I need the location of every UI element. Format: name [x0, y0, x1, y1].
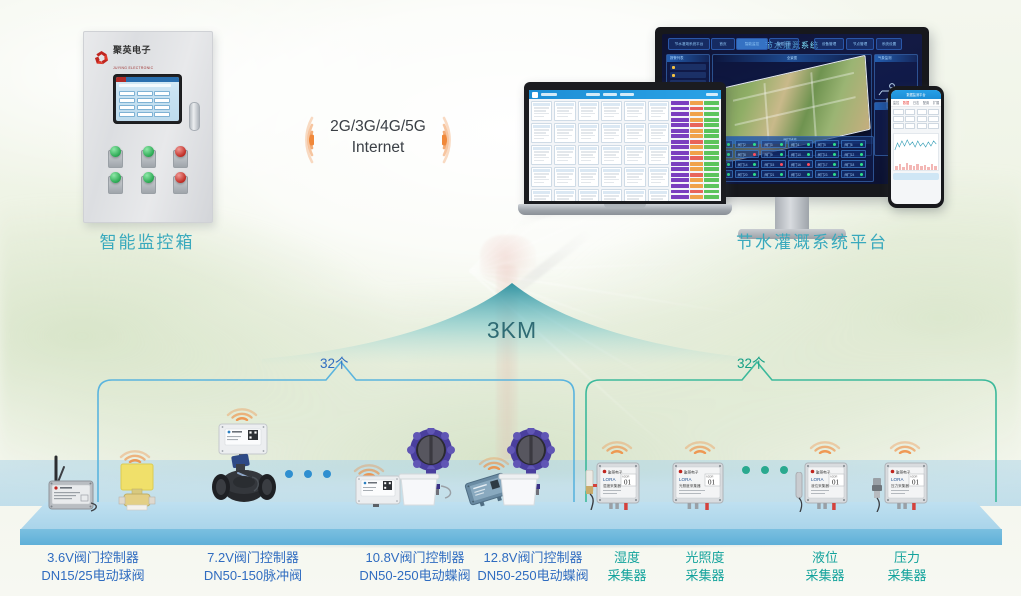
valve-state-dot	[833, 153, 836, 156]
laptop-device-card[interactable]	[554, 145, 575, 165]
caption-line1: 7.2V阀门控制器	[178, 549, 328, 567]
svg-text:01: 01	[708, 479, 716, 487]
svg-text:聚英电子: 聚英电子	[816, 469, 831, 474]
valve-status-cell[interactable]: 阀门22	[788, 170, 813, 178]
laptop-device-card[interactable]	[624, 167, 645, 187]
valve-group-count: 32个	[320, 352, 349, 372]
laptop-toolbar	[529, 90, 721, 99]
svg-text:光照度采集器: 光照度采集器	[679, 483, 701, 488]
laptop-device-card[interactable]	[554, 101, 575, 121]
caption-pressure-collector: 压力采集器	[872, 549, 942, 585]
network-link: 2G/3G/4G/5G Internet	[262, 104, 494, 176]
caption-line1: 湿度	[592, 549, 662, 567]
wifi-icon-sensor-3	[808, 428, 842, 459]
svg-text:压力采集器: 压力采集器	[891, 483, 909, 488]
wifi-icon-sensor-4	[888, 428, 922, 459]
valve-status-cell[interactable]: 阀门3	[761, 140, 786, 148]
valve-state-dot	[807, 153, 810, 156]
valve-status-cell[interactable]: 阀门20	[735, 170, 760, 178]
svg-text:LORA: LORA	[811, 477, 824, 482]
laptop-device-card[interactable]	[531, 145, 552, 165]
valve-state-dot	[833, 143, 836, 146]
valve-cell-label: 阀门23	[818, 172, 828, 177]
laptop-log-row[interactable]	[671, 118, 719, 122]
cabinet-brand-en: JUYING ELECTRONIC	[113, 66, 153, 70]
laptop-log-row[interactable]	[671, 107, 719, 111]
laptop-device-card[interactable]	[624, 189, 645, 201]
valve-cell-label: 阀门6	[844, 142, 852, 147]
cabinet-door-handle[interactable]	[189, 102, 200, 131]
valve-base-box-1	[398, 473, 440, 508]
valve-status-cell[interactable]: 阀门14	[735, 160, 760, 168]
valve-status-cell[interactable]: 阀门15	[761, 160, 786, 168]
valve-cell-label: 阀门8	[738, 152, 746, 157]
valve-cell-label: 阀门10	[791, 152, 801, 157]
network-line1: 2G/3G/4G/5G	[330, 118, 426, 135]
valve-state-dot	[860, 163, 863, 166]
platform-caption: 节水灌溉系统平台	[600, 228, 1021, 253]
caption-line2: 采集器	[872, 567, 942, 585]
laptop-log-row[interactable]	[671, 195, 719, 199]
laptop-log-row[interactable]	[671, 101, 719, 105]
valve-status-cell[interactable]: 阀门9	[761, 150, 786, 158]
cabinet-hmi-screen[interactable]	[113, 74, 182, 124]
device-illuminance-collector[interactable]: 聚英电子LORA光照度采集器ADDR01	[672, 462, 724, 510]
valve-state-dot	[780, 143, 783, 146]
valve-state-dot	[860, 143, 863, 146]
valve-status-cell[interactable]: 阀门21	[761, 170, 786, 178]
svg-text:01: 01	[832, 479, 840, 487]
svg-text:湿度采集器: 湿度采集器	[603, 483, 621, 488]
caption-line1: 液位	[790, 549, 860, 567]
svg-text:LORA: LORA	[679, 477, 692, 482]
valve-cell-label: 阀门20	[738, 172, 748, 177]
valve-status-cell[interactable]: 阀门12	[841, 150, 866, 158]
valve-status-cell[interactable]: 阀门23	[815, 170, 840, 178]
valve-cell-label: 阀门22	[791, 172, 801, 177]
juying-logo-icon	[94, 50, 109, 65]
valve-status-cell[interactable]: 阀门24	[841, 170, 866, 178]
alarm-item[interactable]	[670, 72, 706, 78]
valve-state-dot	[780, 173, 783, 176]
valve-cell-label: 阀门15	[764, 162, 774, 167]
tab-analysis[interactable]: 数据分析	[769, 38, 799, 50]
humidity-probe	[583, 470, 597, 510]
caption-line2: 采集器	[670, 567, 740, 585]
sensor-group-count: 32个	[737, 352, 766, 372]
caption-illuminance-collector: 光照度采集器	[670, 549, 740, 585]
laptop-log-row[interactable]	[671, 184, 719, 188]
laptop-device-card[interactable]	[624, 101, 645, 121]
ellipsis-dots-valves	[283, 466, 333, 476]
caption-line1: 12.8V阀门控制器	[458, 549, 608, 567]
tab-nodes[interactable]: 节点管理	[846, 38, 874, 50]
valve-base-box-2	[498, 473, 540, 508]
laptop	[518, 82, 732, 222]
phone-action-button[interactable]	[893, 173, 939, 180]
valve-cell-label: 阀门11	[818, 152, 828, 157]
caption-valve-controller-12v8: 12.8V阀门控制器DN50-250电动蝶阀	[458, 549, 608, 585]
svg-text:液位采集器: 液位采集器	[811, 483, 829, 488]
dashboard-tabbar: 节水灌溉系统平台 首页 智能监控 数据分析 设备管理 节点管理 系统设置	[666, 38, 918, 51]
valve-state-dot	[753, 153, 756, 156]
indicator-light-6[interactable]	[173, 176, 188, 194]
indicator-light-2[interactable]	[141, 150, 156, 168]
indicator-light-4[interactable]	[108, 176, 123, 194]
monitor-stand	[775, 197, 809, 231]
valve-status-cell[interactable]: 阀门10	[788, 150, 813, 158]
indicator-light-5[interactable]	[141, 176, 156, 194]
valve-state-dot	[753, 173, 756, 176]
laptop-dashboard[interactable]	[529, 90, 721, 201]
device-captions: 3.6V阀门控制器DN15/25电动球阀7.2V阀门控制器DN50-150脉冲阀…	[0, 545, 1021, 593]
wifi-icon-valve-2	[225, 395, 259, 426]
phone-tab[interactable]: 扩展	[933, 100, 939, 105]
laptop-device-card[interactable]	[531, 123, 552, 143]
signal-waves-right-icon	[442, 112, 494, 168]
caption-line2: DN15/25电动球阀	[18, 567, 168, 585]
phone-title: 数据监测平台	[906, 92, 925, 97]
wifi-icon-sensor-1	[600, 428, 634, 459]
device-humidity-collector[interactable]: 聚英电子LORA湿度采集器ADDR01	[596, 462, 640, 510]
valve-status-cell[interactable]: 阀门2	[735, 140, 760, 148]
laptop-device-card[interactable]	[648, 189, 669, 201]
valve-status-cell[interactable]: 阀门6	[841, 140, 866, 148]
caption-line2: 采集器	[592, 567, 662, 585]
caption-line2: DN50-250电动蝶阀	[458, 567, 608, 585]
valve-state-dot	[807, 173, 810, 176]
svg-text:聚英电子: 聚英电子	[896, 469, 911, 474]
device-valve-controller-10v8[interactable]	[355, 475, 401, 507]
tab-devices[interactable]: 设备管理	[814, 38, 844, 50]
laptop-device-card[interactable]	[554, 189, 575, 201]
laptop-device-card[interactable]	[601, 145, 622, 165]
phone-tabs: 监控数据日志配置扩展	[891, 99, 941, 107]
caption-line1: 光照度	[670, 549, 740, 567]
valve-cell-label: 阀门12	[844, 152, 854, 157]
laptop-device-card[interactable]	[578, 145, 599, 165]
indicator-light-3[interactable]	[173, 150, 188, 168]
caption-line2: 采集器	[790, 567, 860, 585]
valve-state-dot	[833, 163, 836, 166]
valve-status-cell[interactable]: 阀门18	[841, 160, 866, 168]
svg-text:01: 01	[912, 479, 920, 487]
valve-status-cell[interactable]: 阀门5	[815, 140, 840, 148]
svg-text:聚英电子: 聚英电子	[684, 469, 699, 474]
laptop-log-row[interactable]	[671, 140, 719, 144]
laptop-device-card[interactable]	[601, 101, 622, 121]
svg-text:聚英电子: 聚英电子	[608, 469, 623, 474]
phone-trend-chart	[893, 133, 939, 171]
infographic-canvas: 聚英电子 JUYING ELECTRONIC	[0, 0, 1021, 596]
valve-cell-label: 阀门5	[818, 142, 826, 147]
laptop-device-card[interactable]	[531, 167, 552, 187]
valve-cell-label: 阀门9	[764, 152, 772, 157]
smart-control-cabinet: 聚英电子 JUYING ELECTRONIC	[83, 31, 213, 223]
valve-state-dot	[807, 143, 810, 146]
phone-tab[interactable]: 数据	[903, 100, 909, 105]
laptop-device-card[interactable]	[554, 167, 575, 187]
caption-valve-controller-7v2: 7.2V阀门控制器DN50-150脉冲阀	[178, 549, 328, 585]
laptop-log-row[interactable]	[671, 145, 719, 149]
smartphone: 数据监测平台 监控数据日志配置扩展	[888, 86, 944, 208]
valve-cell-label: 阀门21	[764, 172, 774, 177]
laptop-device-card[interactable]	[531, 189, 552, 201]
caption-line2: DN50-150脉冲阀	[178, 567, 328, 585]
level-probe	[793, 472, 805, 512]
phone-app[interactable]: 数据监测平台 监控数据日志配置扩展	[891, 90, 941, 204]
valve-cell-label: 阀门24	[844, 172, 854, 177]
device-pulse-valve-dn50	[208, 453, 280, 505]
laptop-device-card[interactable]	[578, 123, 599, 143]
caption-line1: 3.6V阀门控制器	[18, 549, 168, 567]
valve-cell-label: 阀门16	[791, 162, 801, 167]
laptop-device-card[interactable]	[578, 101, 599, 121]
laptop-device-grid	[529, 99, 671, 201]
phone-filter-fields[interactable]	[891, 107, 941, 131]
indicator-row-top	[108, 150, 188, 168]
network-line2: Internet	[352, 139, 405, 156]
laptop-device-card[interactable]	[648, 145, 669, 165]
laptop-device-card[interactable]	[601, 123, 622, 143]
device-liquid-level-collector[interactable]: 聚英电子LORA液位采集器ADDR01	[804, 462, 848, 510]
device-valve-controller-7v2[interactable]	[218, 423, 268, 457]
laptop-log-row[interactable]	[671, 167, 719, 171]
valve-state-dot	[753, 163, 756, 166]
laptop-device-card[interactable]	[601, 167, 622, 187]
valve-state-dot	[860, 153, 863, 156]
phone-tab[interactable]: 配置	[923, 100, 929, 105]
indicator-light-1[interactable]	[108, 150, 123, 168]
cabinet-brand-cn: 聚英电子	[113, 45, 151, 55]
tab-settings[interactable]: 系统设置	[876, 38, 902, 50]
laptop-device-card[interactable]	[578, 167, 599, 187]
cabinet-caption: 智能监控箱	[35, 228, 259, 253]
valve-status-cell[interactable]: 阀门4	[788, 140, 813, 148]
laptop-log-row[interactable]	[671, 123, 719, 127]
tab-monitoring[interactable]: 智能监控	[736, 38, 768, 50]
laptop-log-row[interactable]	[671, 190, 719, 194]
laptop-log-row[interactable]	[671, 151, 719, 155]
phone-titlebar: 数据监测平台	[891, 90, 941, 99]
laptop-log-row[interactable]	[671, 129, 719, 133]
device-pressure-collector[interactable]: 聚英电子LORA压力采集器ADDR01	[884, 462, 928, 510]
tab-home[interactable]: 首页	[711, 38, 735, 50]
alarm-item[interactable]	[670, 64, 706, 70]
valve-cell-label: 阀门17	[818, 162, 828, 167]
valve-state-dot	[860, 173, 863, 176]
svg-text:01: 01	[624, 479, 632, 487]
caption-valve-controller-3v6: 3.6V阀门控制器DN15/25电动球阀	[18, 549, 168, 585]
laptop-trackpad-notch	[604, 204, 646, 208]
laptop-log-row[interactable]	[671, 162, 719, 166]
range-label: 3KM	[262, 317, 762, 344]
caption-humidity-collector: 湿度采集器	[592, 549, 662, 585]
valve-state-dot	[807, 163, 810, 166]
wifi-icon-sensor-2	[683, 428, 717, 459]
laptop-log-row[interactable]	[671, 112, 719, 116]
laptop-log-row[interactable]	[671, 173, 719, 177]
svg-text:LORA: LORA	[603, 477, 616, 482]
laptop-device-card[interactable]	[601, 189, 622, 201]
panel-alarm-title: 报警列表	[667, 55, 709, 62]
laptop-log-row[interactable]	[671, 178, 719, 182]
device-ball-valve-dn15	[115, 462, 159, 512]
valve-cell-label: 阀门3	[764, 142, 772, 147]
valve-cell-label: 阀门4	[791, 142, 799, 147]
laptop-device-card[interactable]	[648, 167, 669, 187]
phone-bar-series	[894, 161, 938, 171]
valve-status-cell[interactable]: 阀门8	[735, 150, 760, 158]
valve-state-dot	[753, 143, 756, 146]
caption-line1: 压力	[872, 549, 942, 567]
valve-status-cell[interactable]: 阀门11	[815, 150, 840, 158]
laptop-brand-icon	[532, 92, 538, 98]
device-platform	[20, 502, 1002, 550]
laptop-log-list	[671, 99, 721, 201]
laptop-log-row[interactable]	[671, 134, 719, 138]
laptop-device-card[interactable]	[624, 145, 645, 165]
phone-tab[interactable]: 监控	[893, 100, 899, 105]
valve-cell-label: 阀门18	[844, 162, 854, 167]
panel-weather-title: 气象监测	[875, 55, 917, 62]
valve-status-cell[interactable]: 阀门17	[815, 160, 840, 168]
cabinet-brand-logo: 聚英电子 JUYING ELECTRONIC	[94, 41, 153, 73]
laptop-device-card[interactable]	[624, 123, 645, 143]
device-valve-controller-3v6[interactable]	[45, 455, 97, 513]
laptop-device-card[interactable]	[648, 101, 669, 121]
laptop-device-card[interactable]	[531, 101, 552, 121]
phone-tab[interactable]: 日志	[913, 100, 919, 105]
indicator-row-bottom	[108, 176, 188, 194]
valve-state-dot	[833, 173, 836, 176]
tab-platform[interactable]: 节水灌溉系统平台	[668, 38, 710, 50]
valve-state-dot	[780, 153, 783, 156]
svg-text:LORA: LORA	[891, 477, 904, 482]
valve-status-cell[interactable]: 阀门16	[788, 160, 813, 168]
laptop-device-card[interactable]	[648, 123, 669, 143]
caption-liquid-level-collector: 液位采集器	[790, 549, 860, 585]
valve-cell-label: 阀门14	[738, 162, 748, 167]
laptop-device-card[interactable]	[554, 123, 575, 143]
laptop-log-row[interactable]	[671, 156, 719, 160]
ellipsis-dots-sensors	[740, 462, 790, 472]
pressure-probe	[869, 478, 885, 512]
valve-cell-label: 阀门2	[738, 142, 746, 147]
laptop-device-card[interactable]	[578, 189, 599, 201]
valve-state-dot	[780, 163, 783, 166]
